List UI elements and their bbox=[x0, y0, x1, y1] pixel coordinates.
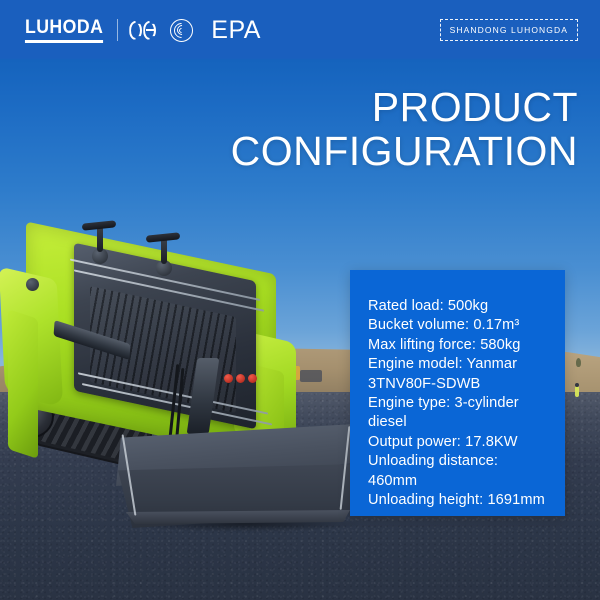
company-badge: SHANDONG LUHONGDA bbox=[440, 19, 578, 41]
left-lift-arm bbox=[8, 309, 38, 459]
spec-item: Bucket volume: 0.17m³ bbox=[368, 316, 549, 335]
specification-list: Rated load: 500kgBucket volume: 0.17m³Ma… bbox=[368, 297, 549, 510]
bucket-cutting-edge bbox=[126, 510, 350, 524]
hydraulic-couplers bbox=[224, 374, 257, 383]
ridge-tree-icon bbox=[576, 358, 581, 367]
coupler-icon bbox=[248, 374, 257, 383]
specification-panel: Rated load: 500kgBucket volume: 0.17m³Ma… bbox=[350, 270, 565, 516]
title-line-2: CONFIGURATION bbox=[231, 130, 578, 174]
brand-group: LUHODA EPA bbox=[22, 16, 261, 45]
fuel-cap bbox=[26, 278, 39, 291]
control-lever bbox=[97, 226, 103, 252]
ce-mark-icon bbox=[129, 21, 156, 40]
epa-mark-icon: EPA bbox=[211, 16, 261, 45]
hood-rail bbox=[74, 269, 264, 311]
worker-figure bbox=[575, 386, 579, 397]
luhoda-logo[interactable]: LUHODA bbox=[25, 17, 103, 43]
coupler-icon bbox=[224, 374, 233, 383]
ce-letter-c-icon bbox=[129, 21, 142, 40]
spec-item: Engine type: 3-cylinder diesel bbox=[368, 394, 549, 433]
title-line-1: PRODUCT bbox=[372, 84, 578, 130]
control-lever bbox=[161, 238, 167, 264]
coupler-icon bbox=[236, 374, 245, 383]
spec-item: Output power: 17.8KW bbox=[368, 433, 549, 452]
brand-divider bbox=[117, 19, 118, 41]
product-configuration-banner: LUHODA EPA SHANDONG LUHONGDA PRODUCT CON… bbox=[0, 0, 600, 600]
spec-item: Unloading distance: 460mm bbox=[368, 452, 549, 491]
spec-item: Rated load: 500kg bbox=[368, 297, 549, 316]
loader-bucket bbox=[116, 424, 360, 542]
spec-item: Unloading height: 1691mm bbox=[368, 491, 549, 510]
header-bar: LUHODA EPA SHANDONG LUHONGDA bbox=[0, 0, 600, 60]
spec-item: Engine model: Yanmar 3TNV80F-SDWB bbox=[368, 355, 549, 394]
ce-letter-e-icon bbox=[143, 21, 156, 40]
page-title: PRODUCT CONFIGURATION bbox=[231, 86, 578, 174]
ccc-mark-icon bbox=[170, 19, 193, 42]
spec-item: Max lifting force: 580kg bbox=[368, 336, 549, 355]
